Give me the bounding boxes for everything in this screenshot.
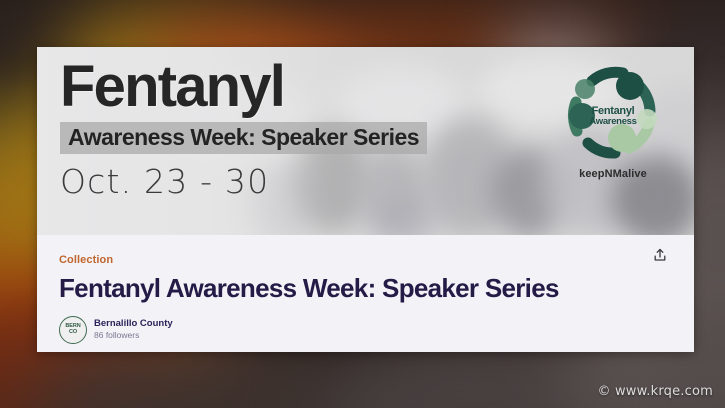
event-collection-card: Fentanyl Awareness Week: Speaker Series … [37, 47, 694, 352]
logo-center-line2: Awareness [554, 117, 672, 127]
author-row[interactable]: BERN CO Bernalillo County 86 followers [59, 316, 672, 344]
hero-subtitle: Awareness Week: Speaker Series [68, 126, 419, 149]
hero-subtitle-highlight-band: Awareness Week: Speaker Series [60, 122, 427, 154]
avatar-monogram-line2: CO [69, 329, 77, 335]
avatar-monogram: BERN CO [65, 324, 80, 336]
logo-tagline: keepNMalive [554, 168, 672, 180]
logo-center-wordmark: Fentanyl Awareness [554, 106, 672, 127]
author-follower-count: 86 followers [94, 330, 173, 341]
collection-title: Fentanyl Awareness Week: Speaker Series [59, 274, 672, 303]
share-upload-icon[interactable] [648, 243, 672, 267]
collection-info-panel: Collection Fentanyl Awareness Week: Spea… [37, 235, 694, 352]
author-meta: Bernalillo County 86 followers [94, 318, 173, 341]
broadcaster-watermark: © www.krqe.com [597, 384, 713, 399]
hero-banner: Fentanyl Awareness Week: Speaker Series … [37, 47, 694, 235]
author-name[interactable]: Bernalillo County [94, 318, 173, 330]
fentanyl-awareness-logo: Fentanyl Awareness keepNMalive [554, 61, 672, 180]
avatar[interactable]: BERN CO [59, 316, 87, 344]
collection-type-label: Collection [59, 254, 672, 266]
